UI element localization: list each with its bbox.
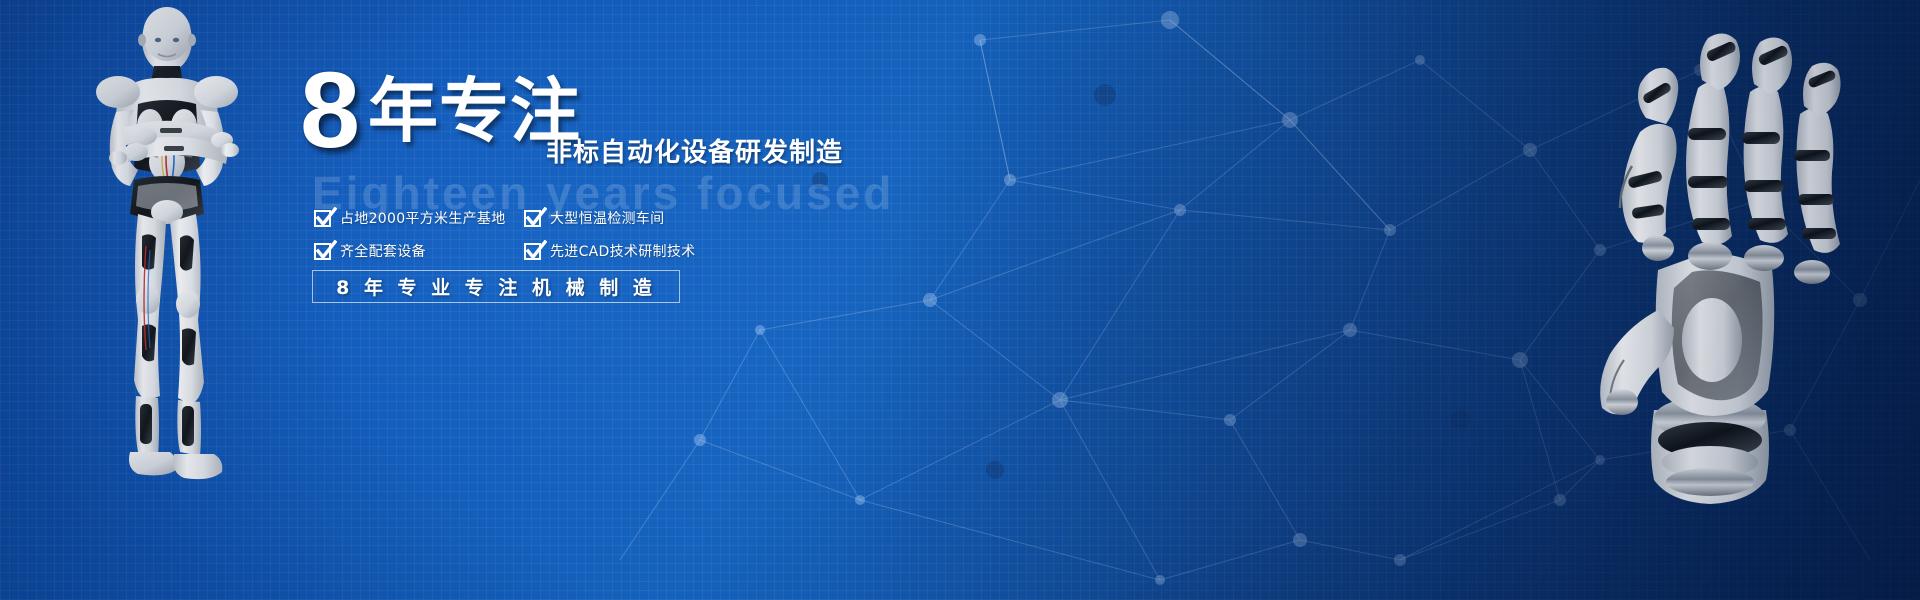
feature-list: 占地2000平方米生产基地 大型恒温检测车间: [314, 208, 734, 274]
slogan-box: 8 年 专 业 专 注 机 械 制 造: [312, 270, 680, 303]
banner-content: 8 年专注 非标自动化设备研发制造 Eighteen years focused…: [300, 70, 1060, 162]
feature-label: 大型恒温检测车间: [550, 208, 664, 228]
feature-label: 占地2000平方米生产基地: [340, 208, 506, 228]
headline-subtitle: 非标自动化设备研发制造: [546, 132, 843, 169]
feature-item: 占地2000平方米生产基地: [314, 208, 524, 228]
promo-banner: 8 年专注 非标自动化设备研发制造 Eighteen years focused…: [0, 0, 1920, 600]
feature-item: 大型恒温检测车间: [524, 208, 734, 228]
slogan-text: 8 年 专 业 专 注 机 械 制 造: [336, 273, 656, 300]
headline-number: 8: [300, 56, 358, 164]
check-icon: [314, 210, 331, 227]
check-icon: [524, 243, 541, 260]
feature-row: 齐全配套设备 先进CAD技术研制技术: [314, 241, 734, 261]
feature-label: 先进CAD技术研制技术: [550, 241, 695, 261]
feature-row: 占地2000平方米生产基地 大型恒温检测车间: [314, 208, 734, 228]
feature-item: 齐全配套设备: [314, 241, 524, 261]
humanoid-robot-figure: [72, 0, 262, 490]
check-icon: [314, 243, 331, 260]
feature-item: 先进CAD技术研制技术: [524, 241, 734, 261]
headline-group: 8 年专注 非标自动化设备研发制造: [300, 70, 1060, 162]
feature-label: 齐全配套设备: [340, 241, 426, 261]
check-icon: [524, 210, 541, 227]
robotic-hand-figure: [1562, 10, 1892, 510]
